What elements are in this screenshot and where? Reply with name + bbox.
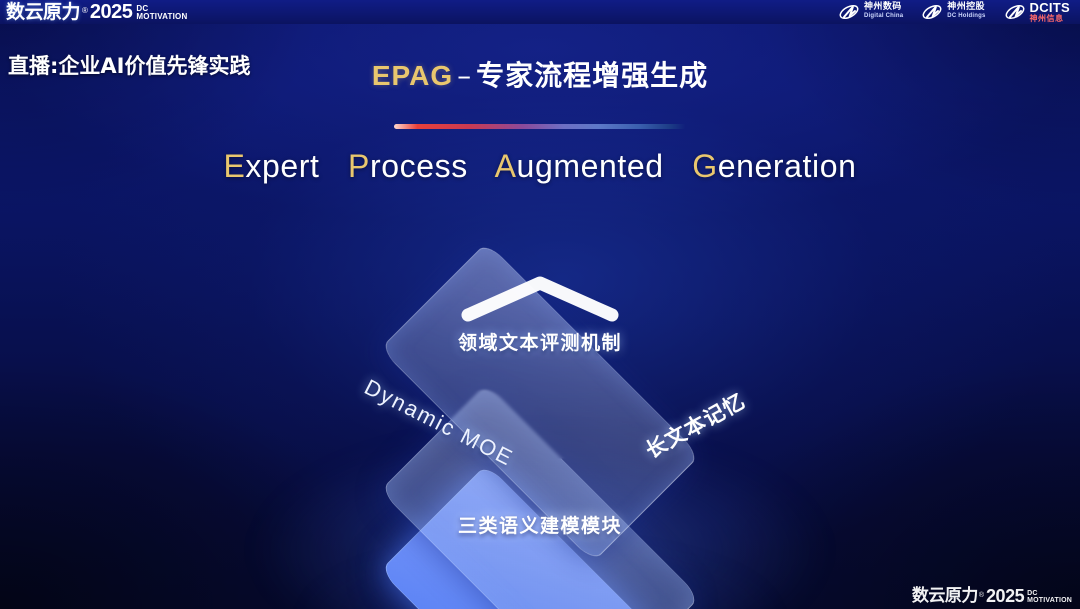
gradient-divider: [394, 124, 686, 129]
watermark-dc: DC: [1027, 590, 1072, 597]
diagram-layer-top-label: 领域文本评测机制: [458, 328, 622, 355]
watermark-motivation: MOTIVATION: [1027, 597, 1072, 604]
event-logo: 数云原力 ® 2025 DC MOTIVATION: [0, 2, 187, 22]
partner-name-en: Digital China: [864, 12, 903, 21]
watermark-dc-motivation: DC MOTIVATION: [1027, 590, 1072, 604]
swoosh-icon: [921, 2, 943, 22]
swoosh-icon: [838, 2, 860, 22]
subtitle-word-process: Process: [348, 148, 468, 184]
partner-name-cn: 神州信息: [1030, 14, 1071, 23]
top-brand-bar: 数云原力 ® 2025 DC MOTIVATION 神州数码 Digital C…: [0, 0, 1080, 24]
title-chinese: 专家流程增强生成: [476, 59, 708, 92]
partner-name-cn: 神州数码: [864, 3, 903, 12]
subtitle-word-generation: Generation: [692, 148, 856, 184]
presentation-slide: 数云原力 ® 2025 DC MOTIVATION 神州数码 Digital C…: [0, 0, 1080, 609]
layered-diagram: 领域文本评测机制 Dynamic MOE 长文本记忆 三类语义建模模块: [0, 225, 1080, 595]
chevron-up-icon: [460, 273, 620, 323]
title-acronym: EPAG: [372, 60, 453, 91]
swoosh-icon: [1004, 2, 1026, 22]
slide-subtitle: Expert Process Augmented Generation: [0, 148, 1080, 185]
diagram-layer-bottom-label: 三类语义建模模块: [458, 511, 622, 538]
partner-name-en: DC Holdings: [947, 12, 985, 21]
title-dash: –: [453, 59, 476, 92]
registered-mark: ®: [82, 6, 88, 16]
partner-logo-digital-china: 神州数码 Digital China: [838, 2, 903, 22]
event-logo-dc-motivation: DC MOTIVATION: [136, 5, 187, 21]
partner-name-cn: 神州控股: [947, 3, 985, 12]
partner-logo-group: 神州数码 Digital China 神州控股 DC Holdings: [838, 1, 1080, 23]
subtitle-word-augmented: Augmented: [495, 148, 664, 184]
corner-watermark-logo: 数云原力 ® 2025 DC MOTIVATION: [912, 587, 1072, 605]
live-stream-label: 直播:企业AI价值先锋实践: [8, 50, 250, 80]
event-logo-motivation: MOTIVATION: [136, 13, 187, 21]
watermark-registered: ®: [979, 592, 984, 599]
event-logo-cn: 数云原力: [6, 3, 80, 22]
event-logo-year: 2025: [90, 2, 133, 22]
subtitle-word-expert: Expert: [223, 148, 319, 184]
watermark-cn: 数云原力: [912, 588, 978, 605]
partner-name-en: DCITS: [1030, 1, 1071, 14]
watermark-year: 2025: [986, 587, 1024, 605]
partner-logo-dc-holdings: 神州控股 DC Holdings: [921, 2, 985, 22]
partner-logo-dcits: DCITS 神州信息: [1004, 1, 1071, 23]
